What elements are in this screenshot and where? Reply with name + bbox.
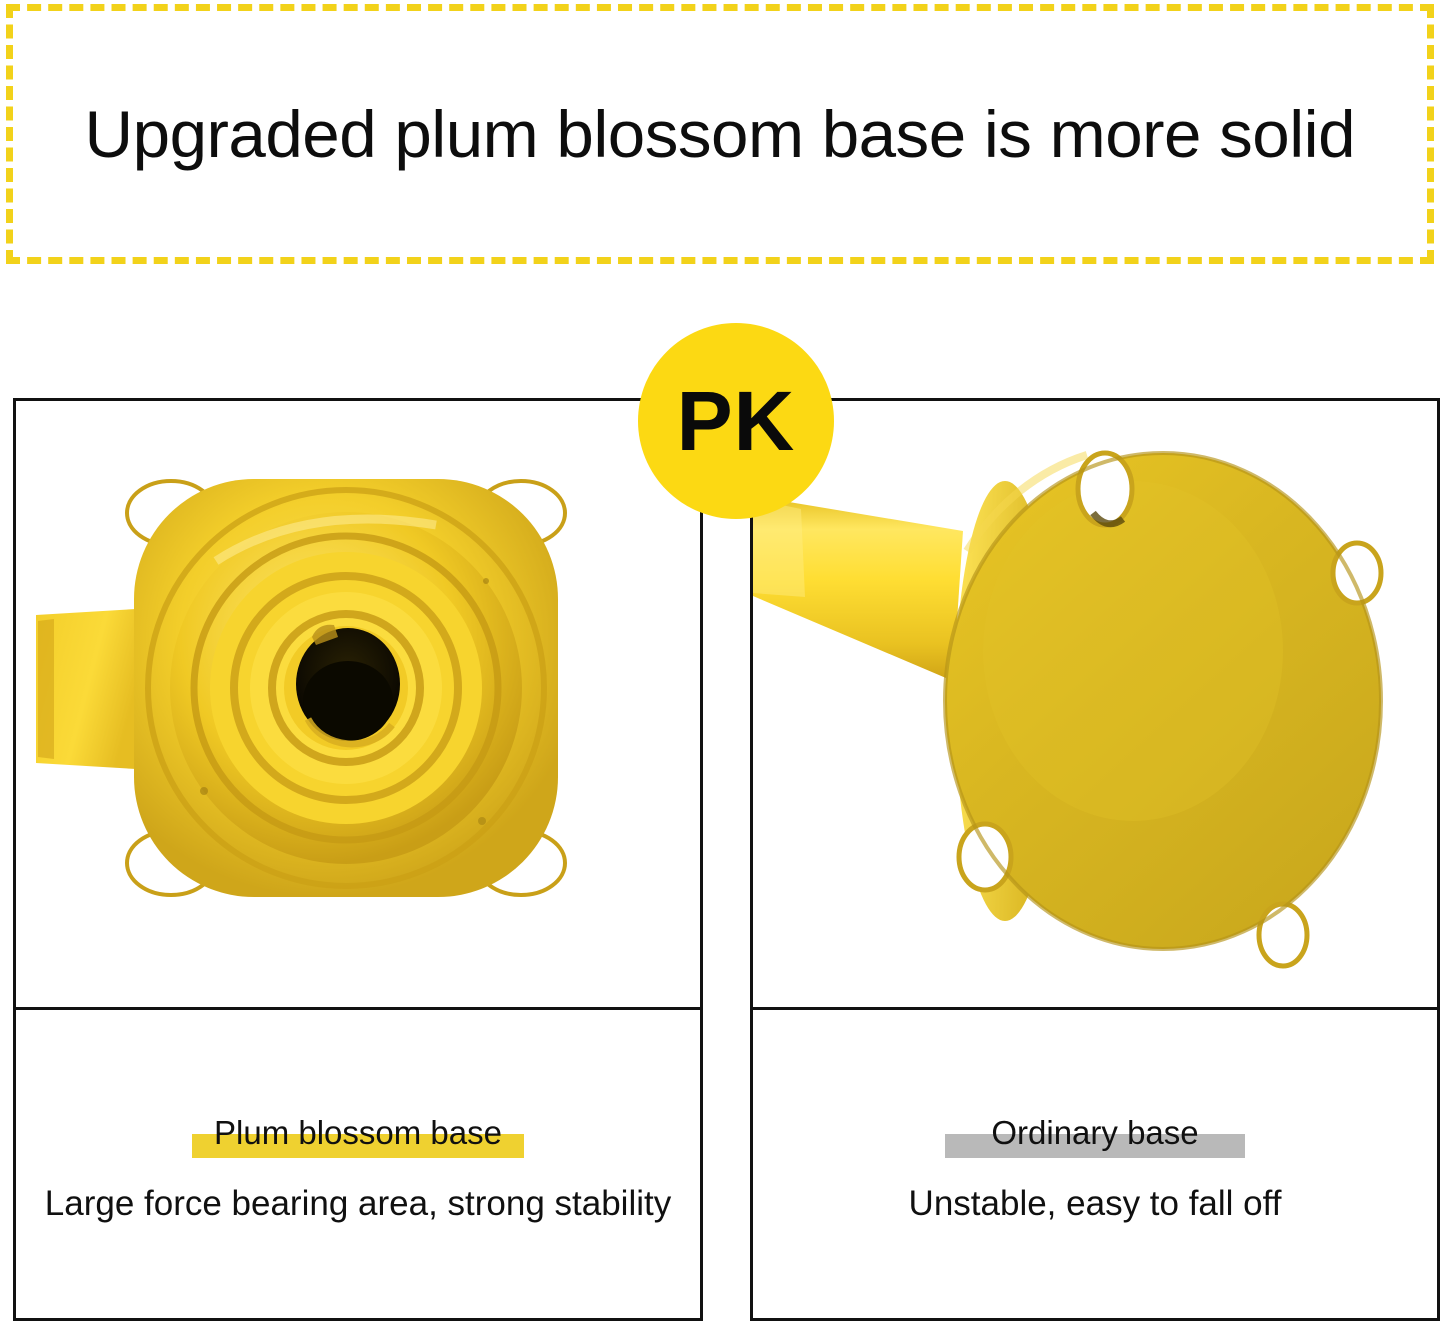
plum-blossom-base-photo (16, 401, 700, 1008)
caption-left: Plum blossom base Large force bearing ar… (16, 1010, 700, 1318)
caption-subtitle-right: Unstable, easy to fall off (753, 1184, 1437, 1224)
caption-title-right: Ordinary base (991, 1114, 1198, 1151)
ordinary-base-photo (753, 401, 1437, 1008)
comparison-panel-left: Plum blossom base Large force bearing ar… (13, 398, 703, 1321)
comparison-panel-right: Ordinary base Unstable, easy to fall off (750, 398, 1440, 1321)
comparison-section: Plum blossom base Large force bearing ar… (0, 0, 1445, 1329)
caption-subtitle-left: Large force bearing area, strong stabili… (16, 1184, 700, 1224)
caption-title-left: Plum blossom base (214, 1114, 502, 1151)
caption-right: Ordinary base Unstable, easy to fall off (753, 1010, 1437, 1318)
pk-badge-label: PK (677, 379, 796, 463)
pk-badge: PK (638, 323, 834, 519)
